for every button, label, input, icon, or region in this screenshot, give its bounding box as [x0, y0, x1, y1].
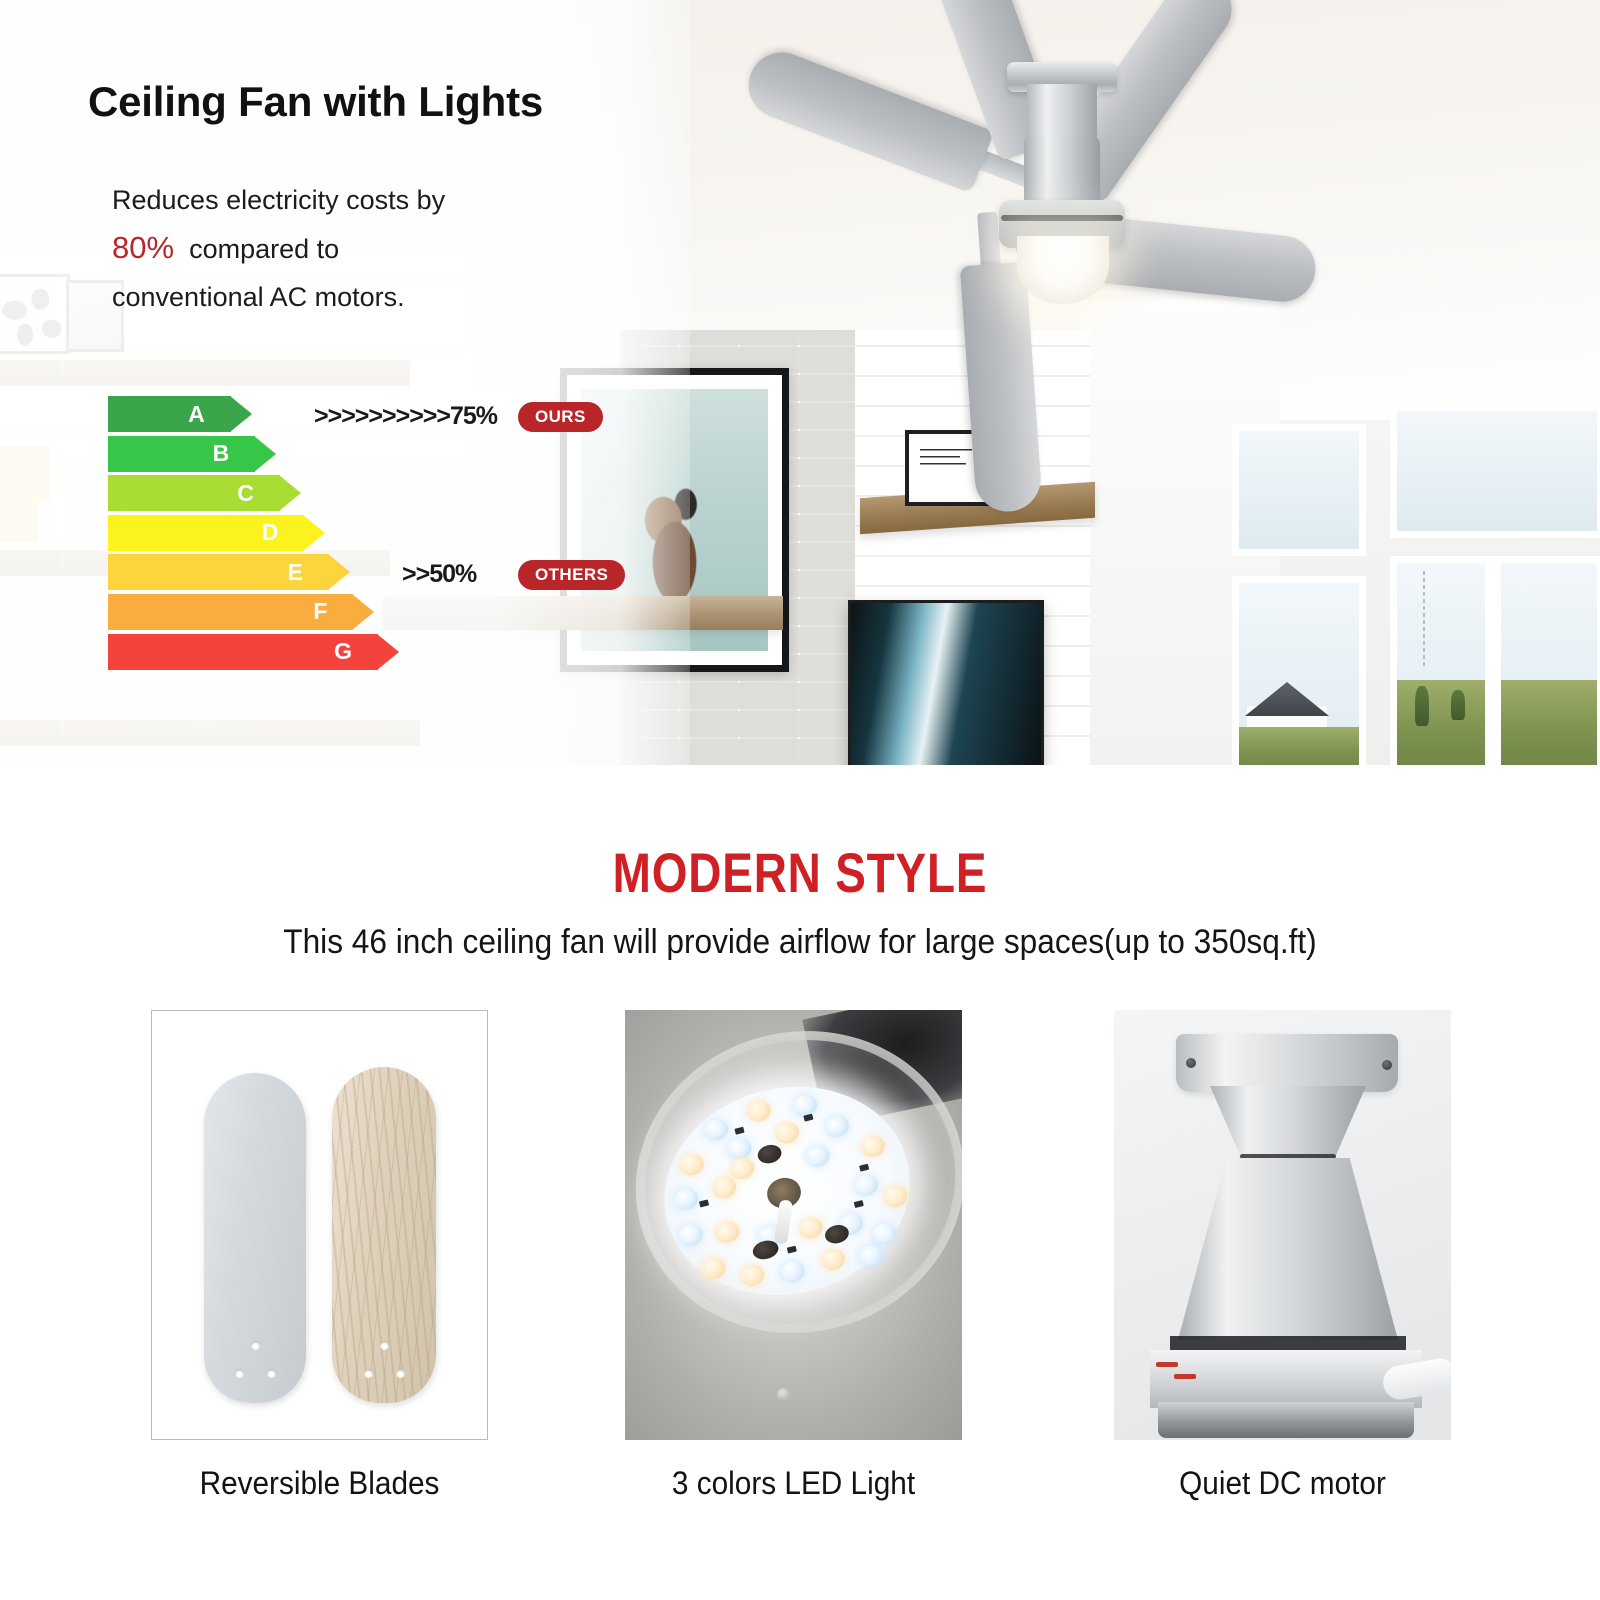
motor-canopy	[1176, 1034, 1398, 1092]
savings-percent: 80%	[112, 230, 174, 265]
feature-image-dc-motor	[1114, 1010, 1451, 1440]
subtitle-line-1: Reduces electricity costs by	[112, 185, 445, 215]
page-title: Ceiling Fan with Lights	[88, 78, 543, 126]
motor-mounting-plate	[1150, 1350, 1422, 1408]
hero-section: Ceiling Fan with Lights Reduces electric…	[0, 0, 1600, 765]
energy-label-f: F	[313, 598, 327, 625]
energy-label-g: G	[334, 638, 352, 665]
wall-mounted-tv	[848, 600, 1044, 765]
others-chevrons: >>50%	[402, 560, 476, 589]
ours-chevrons: >>>>>>>>>>75%	[314, 402, 497, 431]
motor-chrome-base	[1158, 1402, 1414, 1438]
energy-bar-e: E	[108, 554, 329, 590]
energy-row: B	[108, 436, 628, 472]
window-chain	[1423, 571, 1425, 667]
energy-row: C	[108, 475, 628, 511]
energy-bar-g: G	[108, 634, 378, 670]
blade-wood	[332, 1067, 436, 1403]
window-upper-right	[1390, 404, 1600, 538]
energy-row: F	[108, 594, 628, 630]
window-upper-left	[1232, 424, 1366, 556]
hero-subtitle: Reduces electricity costs by 80% compare…	[112, 176, 445, 321]
feature-image-led-light	[625, 1010, 962, 1440]
energy-efficiency-chart: A B C D E F G >>>>>>>>>>75% OURS >>50% O…	[108, 396, 628, 674]
energy-label-b: B	[213, 440, 230, 467]
feature-panels	[0, 1010, 1600, 1440]
feature-caption-blades: Reversible Blades	[163, 1465, 476, 1502]
energy-bar-b: B	[108, 436, 255, 472]
window-lower-right	[1390, 556, 1600, 765]
subtitle-line-2: compared to	[189, 234, 339, 264]
housing-screw	[777, 1388, 790, 1401]
energy-label-c: C	[237, 480, 254, 507]
energy-bar-f: F	[108, 594, 353, 630]
feature-caption-led: 3 colors LED Light	[637, 1465, 950, 1502]
energy-row: G	[108, 634, 628, 670]
blade-gray	[204, 1073, 306, 1403]
energy-row: D	[108, 515, 628, 551]
section-heading: MODERN STYLE	[144, 840, 1456, 905]
energy-label-e: E	[288, 559, 303, 586]
fan-light-dome	[1017, 236, 1109, 304]
window-lower-left	[1232, 576, 1366, 765]
feature-caption-motor: Quiet DC motor	[1126, 1465, 1439, 1502]
features-section: MODERN STYLE This 46 inch ceiling fan wi…	[0, 765, 1600, 1600]
energy-bar-a: A	[108, 396, 231, 432]
energy-bar-d: D	[108, 515, 304, 551]
others-badge: OTHERS	[518, 560, 625, 590]
energy-label-a: A	[188, 401, 205, 428]
energy-label-d: D	[262, 519, 279, 546]
product-infographic: Ceiling Fan with Lights Reduces electric…	[0, 0, 1600, 1600]
feature-image-reversible-blades	[151, 1010, 488, 1440]
section-tagline: This 46 inch ceiling fan will provide ai…	[56, 923, 1544, 962]
ceiling-fan-product	[700, 0, 1340, 420]
energy-bar-c: C	[108, 475, 280, 511]
subtitle-line-3: conventional AC motors.	[112, 282, 405, 312]
ours-badge: OURS	[518, 402, 603, 432]
